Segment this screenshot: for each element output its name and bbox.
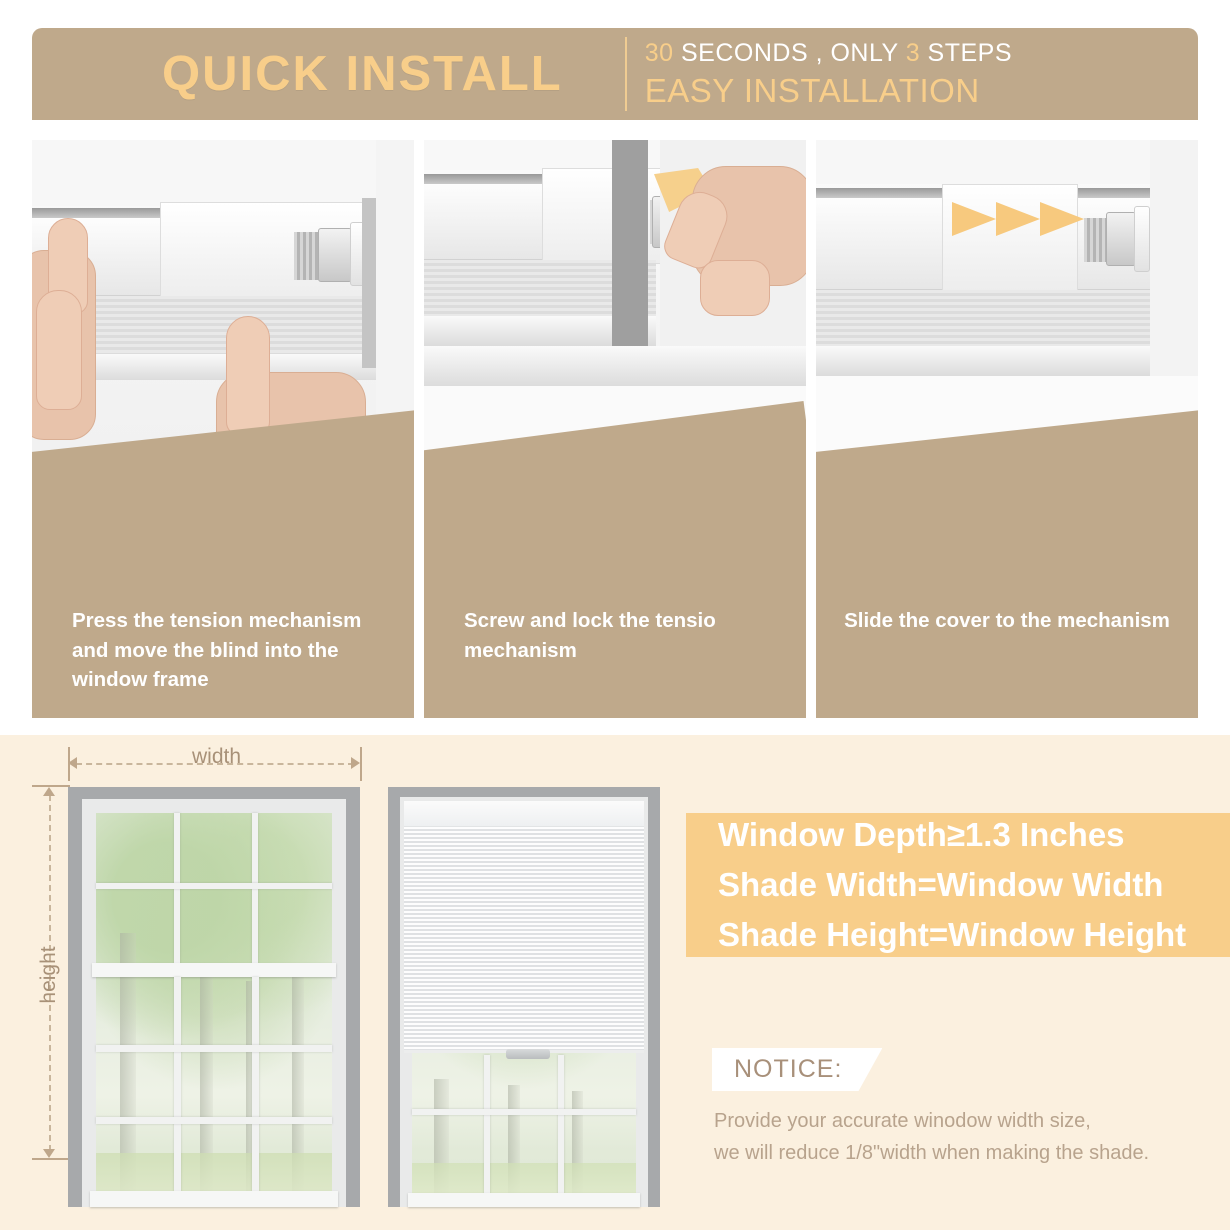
width-arrow-right-icon	[351, 757, 360, 769]
steps-row: 1 Press the tension mechanism and move t…	[32, 140, 1198, 718]
shade-headrail	[404, 801, 644, 827]
step-caption-1: Press the tension mechanism and move the…	[32, 590, 414, 718]
cellular-shade	[404, 827, 644, 1053]
step-panel-2: 2 Screw and lock the tensio mechanism	[424, 140, 806, 718]
width-label: width	[192, 745, 241, 769]
width-cap-right	[360, 747, 362, 781]
spec-box: Window Depth≥1.3 Inches Shade Width=Wind…	[686, 813, 1230, 957]
spec-line-3: Shade Height=Window Height	[686, 910, 1230, 960]
width-dimension-line	[76, 763, 354, 765]
measurement-section: width height	[0, 735, 1230, 1230]
notice-label: NOTICE:	[712, 1048, 882, 1091]
height-arrow-top-icon	[43, 787, 55, 796]
step-caption-3: Slide the cover to the mechanism	[816, 590, 1198, 718]
spec-line-1: Window Depth≥1.3 Inches	[686, 810, 1230, 860]
window-bare	[68, 787, 360, 1207]
slide-arrow-3	[1040, 202, 1084, 236]
height-cap-bottom	[32, 1158, 70, 1160]
notice-line-2: we will reduce 1/8"width when making the…	[714, 1137, 1149, 1169]
step-caption-2: Screw and lock the tensio mechanism	[424, 590, 806, 718]
tagline-seconds-value: 30	[645, 39, 674, 67]
notice-text: Provide your accurate winodow width size…	[714, 1105, 1149, 1170]
spec-line-2: Shade Width=Window Width	[686, 860, 1230, 910]
tagline-suffix-text: STEPS	[920, 39, 1012, 67]
header-subtitle: EASY INSTALLATION	[645, 71, 1012, 111]
height-label: height	[37, 940, 61, 1010]
header-tagline-block: 30 SECONDS , ONLY 3 STEPS EASY INSTALLAT…	[625, 37, 1012, 111]
width-arrow-left-icon	[68, 757, 77, 769]
step-panel-1: 1 Press the tension mechanism and move t…	[32, 140, 414, 718]
page-title: QUICK INSTALL	[162, 46, 563, 102]
infographic-page: QUICK INSTALL 30 SECONDS , ONLY 3 STEPS …	[0, 0, 1230, 1230]
tagline-mid-text: SECONDS , ONLY	[674, 39, 906, 67]
header-tagline: 30 SECONDS , ONLY 3 STEPS	[645, 37, 1012, 71]
tagline-steps-value: 3	[906, 39, 920, 67]
step-panel-3: 3 Slide the cover to the mechanism	[816, 140, 1198, 718]
height-arrow-bottom-icon	[43, 1149, 55, 1158]
shade-handle[interactable]	[506, 1049, 550, 1059]
slide-arrow-2	[996, 202, 1040, 236]
header-banner: QUICK INSTALL 30 SECONDS , ONLY 3 STEPS …	[32, 28, 1198, 120]
notice-line-1: Provide your accurate winodow width size…	[714, 1105, 1149, 1137]
slide-arrow-1	[952, 202, 996, 236]
window-with-shade	[388, 787, 660, 1207]
